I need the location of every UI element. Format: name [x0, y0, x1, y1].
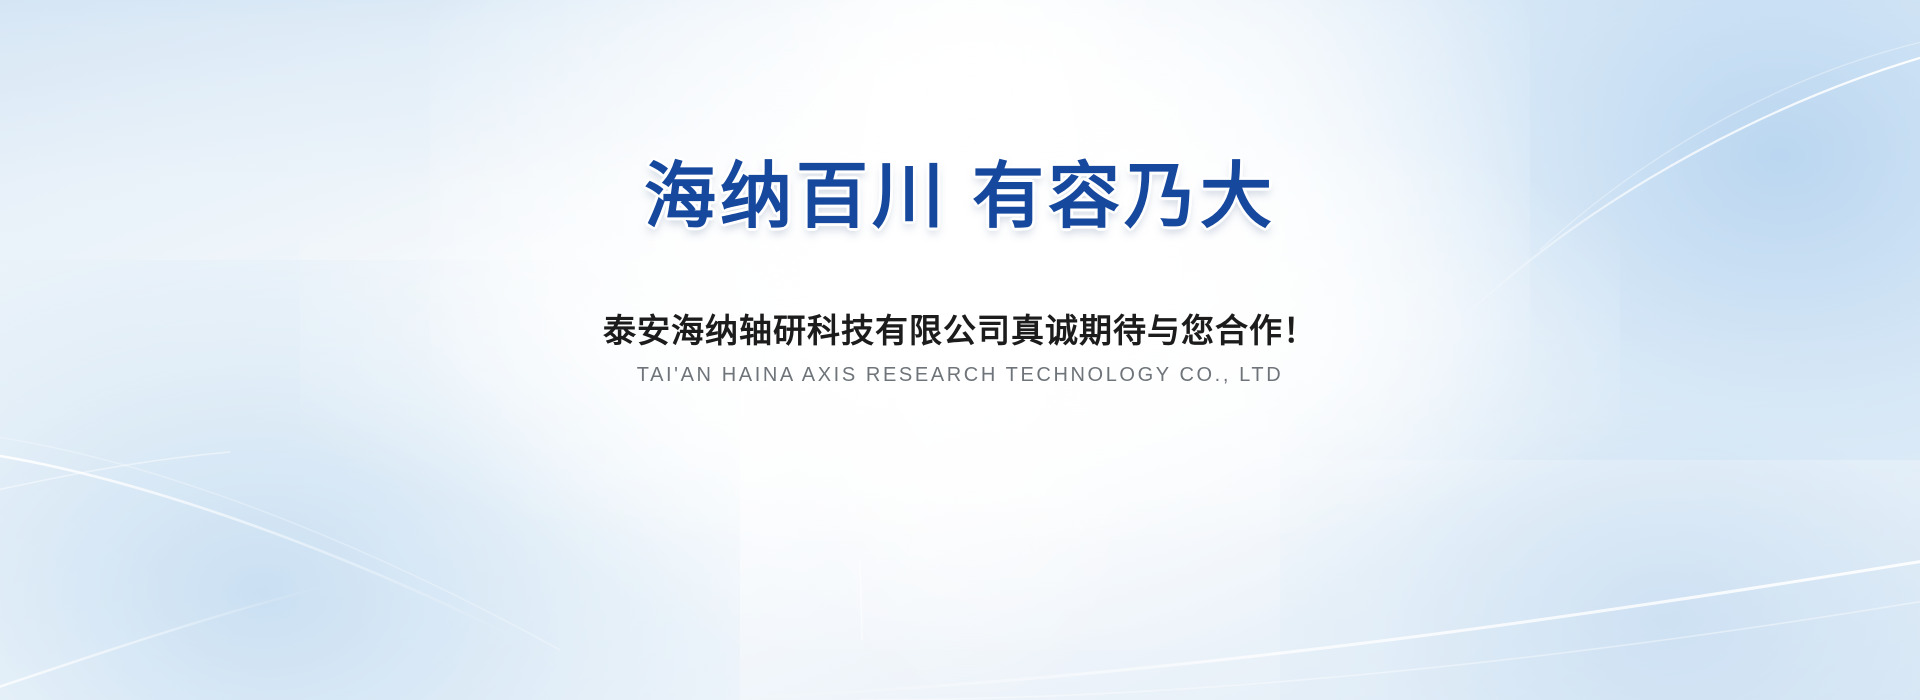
- banner-subtitle-english: TAI'AN HAINA AXIS RESEARCH TECHNOLOGY CO…: [0, 362, 1920, 388]
- banner-subtitle-chinese: 泰安海纳轴研科技有限公司真诚期待与您合作！: [0, 310, 1920, 353]
- banner-content: 海纳百川 有容乃大 泰安海纳轴研科技有限公司真诚期待与您合作！ TAI'AN H…: [0, 0, 1920, 700]
- banner-headline: 海纳百川 有容乃大: [0, 161, 1920, 233]
- hero-banner: 海纳百川 有容乃大 泰安海纳轴研科技有限公司真诚期待与您合作！ TAI'AN H…: [0, 0, 1920, 700]
